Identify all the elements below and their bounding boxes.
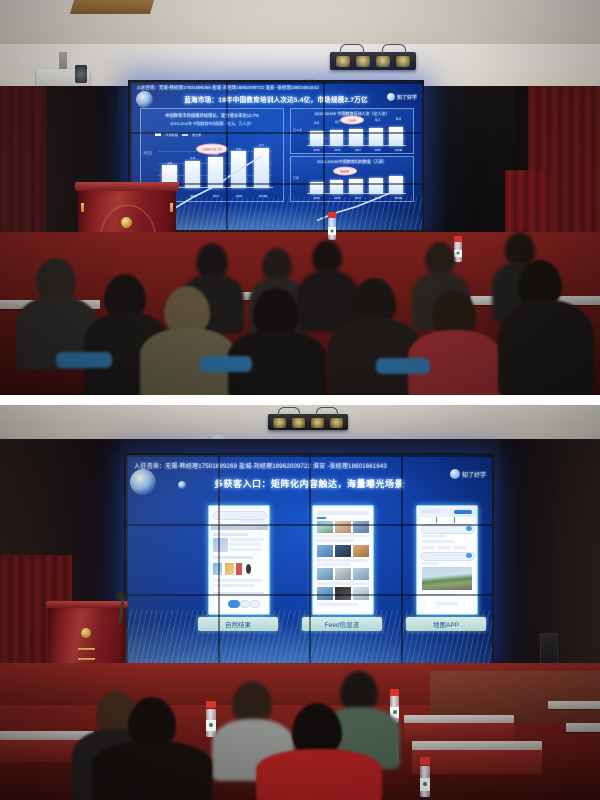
bottle-label xyxy=(328,227,336,235)
projector-lens-icon xyxy=(75,65,87,83)
brand-circle-icon xyxy=(450,469,460,479)
stage-light-bar xyxy=(268,407,348,431)
chart-card-right-bottom: 2015-2019E中国教育机构数量（万家） xyxy=(290,156,414,202)
bottle-label xyxy=(420,778,430,791)
feed-caption xyxy=(317,563,350,566)
map-list-line xyxy=(438,546,451,549)
map-pin-icon xyxy=(466,553,471,558)
map-app-badge xyxy=(454,510,472,514)
bar-value-label: 1.9 xyxy=(190,156,194,160)
chart-left-ylabel: 万亿元 xyxy=(143,151,152,155)
map-list-line xyxy=(422,535,445,538)
feed-caption xyxy=(317,582,369,585)
category-label: 2016 xyxy=(334,148,340,152)
feed-header xyxy=(317,511,369,515)
phone-mockup-feed xyxy=(312,505,374,615)
podium-emblem xyxy=(121,217,132,228)
audience-desk xyxy=(404,715,514,723)
photo-top: 入驻咨询：无锡-韩经理17501699269 盐城-刘经理18962009722… xyxy=(0,0,600,395)
bottle-cap xyxy=(420,757,430,765)
audience-desk-front xyxy=(404,723,514,743)
audience-member xyxy=(256,749,382,800)
audience-member xyxy=(498,300,594,395)
brand-circle-icon xyxy=(387,93,395,101)
pagination-control xyxy=(250,600,260,608)
chart-right-bottom-ylabel: 万家 xyxy=(293,176,299,180)
podium-corner-trim-right xyxy=(170,203,173,212)
stage-lamp-3-icon xyxy=(376,56,390,67)
feed-image xyxy=(335,521,351,533)
map-route-line xyxy=(436,517,437,523)
chart-card-right-top: 2015-2019E 中国教育培训人次（亿人次） 4.4 xyxy=(290,108,414,154)
map-list-line xyxy=(422,540,454,543)
podium-gold-bar xyxy=(78,658,95,660)
map-app-title xyxy=(421,510,440,513)
audience-member xyxy=(425,242,455,276)
result-line xyxy=(230,543,260,546)
audience-chair xyxy=(200,356,252,372)
photo-separator xyxy=(0,395,600,405)
result-line xyxy=(230,538,264,541)
brand-name: 知了好学 xyxy=(397,94,417,101)
result-line xyxy=(230,548,262,551)
slide-ticker-contact: 入驻咨询：无锡-韩经理17501699269 盐城-刘经理18962009722… xyxy=(136,85,416,91)
audience-chair xyxy=(376,358,430,374)
podium-emblem xyxy=(81,628,91,638)
audience-member xyxy=(505,232,535,266)
chart-left-title: 中国教育市场规模持续增长，复合增长率达13.7% xyxy=(145,113,279,119)
phone-screen xyxy=(315,508,372,613)
slide-glow-orb-left xyxy=(130,469,156,495)
map-street-view-photo xyxy=(422,567,472,590)
map-section-label xyxy=(422,562,439,565)
podium-top-surface xyxy=(75,182,179,191)
result-icon xyxy=(236,563,242,575)
chart-right-bottom-xaxis xyxy=(307,193,406,194)
audience-chair xyxy=(56,352,112,368)
bottle-label xyxy=(206,720,216,732)
podium-gold-bar xyxy=(78,648,95,650)
audience-desk xyxy=(548,701,600,709)
chart-left-annotation: CAGR 13.7% xyxy=(196,144,228,155)
map-footer-line xyxy=(436,602,459,605)
led-panel-seam xyxy=(226,82,228,230)
result-icon xyxy=(246,564,251,573)
stage-lamp-4-icon xyxy=(396,56,410,67)
chart-right-top-plot xyxy=(307,125,406,146)
feed-image xyxy=(335,568,351,580)
bottle-label xyxy=(454,250,462,258)
stage-lamp-1-icon xyxy=(336,56,350,67)
chart-right-bottom-annotation: 增长率 xyxy=(333,167,357,176)
result-line xyxy=(213,579,263,582)
result-meta xyxy=(240,520,265,523)
bar xyxy=(369,128,383,146)
phone-screen xyxy=(419,508,476,613)
water-bottle xyxy=(206,701,216,737)
bar xyxy=(389,127,403,146)
feed-caption xyxy=(317,603,358,606)
phone-mockup-map-app xyxy=(416,505,478,615)
chart-left-subtitle: 2015-2019年 中国教育市场规模（亿元，万人次） xyxy=(145,122,279,127)
feed-image xyxy=(317,545,333,557)
audience-member xyxy=(312,240,342,274)
feed-image xyxy=(353,568,369,580)
chart-right-bottom-title: 2015-2019E中国教育机构数量（万家） xyxy=(295,159,410,165)
bottle-cap xyxy=(206,701,216,708)
bar-value-label: 2.7 xyxy=(259,143,263,147)
feed-caption xyxy=(317,535,369,538)
feed-image xyxy=(317,568,333,580)
podium-microphone-head-icon xyxy=(116,591,125,600)
search-bar xyxy=(213,511,267,520)
led-panel-seam xyxy=(309,455,311,665)
category-label: 2018 xyxy=(374,148,380,152)
map-route-line xyxy=(454,517,455,523)
bar-value-label: 4.4 xyxy=(314,121,319,125)
feed-caption xyxy=(317,559,367,562)
slide-glow-orb-left xyxy=(136,91,153,108)
stage-lamp-1-icon xyxy=(273,418,286,428)
light-bar-yoke-right xyxy=(316,407,338,416)
bottle-cap xyxy=(454,236,462,242)
map-list-line xyxy=(454,546,467,549)
bottle-cap xyxy=(390,689,399,696)
bar-value-label: 4.7 xyxy=(335,120,340,124)
category-label: 2019E xyxy=(394,148,402,152)
light-bar-yoke-right xyxy=(382,44,406,54)
stage-lamp-4-icon xyxy=(330,418,343,428)
podium-corner-trim-left xyxy=(81,203,84,212)
category-label: 2017 xyxy=(355,148,361,152)
bar-value-label: 5.1 xyxy=(375,118,380,122)
led-video-wall: 入驻咨询：无锡-韩经理17501699269 盐城-刘经理18962009722… xyxy=(124,453,494,667)
feed-image xyxy=(317,521,333,533)
bar-value-label: 2.5 xyxy=(236,147,240,151)
podium-top-surface xyxy=(46,601,129,608)
audience-desk xyxy=(412,741,542,750)
map-locate-icon xyxy=(466,526,471,531)
slide-glow-orb-small xyxy=(178,481,186,489)
led-panel-seam xyxy=(323,82,325,230)
led-panel-seam xyxy=(126,524,492,526)
audience-desk xyxy=(566,723,600,732)
water-bottle xyxy=(420,757,430,797)
led-screen: 入驻咨询：无锡-韩经理17501699269 盐城-刘经理18962009722… xyxy=(126,455,492,665)
chart-right-top-bars xyxy=(307,125,406,146)
led-panel-seam xyxy=(218,455,220,665)
feed-image xyxy=(353,521,369,533)
led-panel-seam xyxy=(130,132,422,134)
category-label: 2015 xyxy=(313,148,319,152)
feed-tab-indicator xyxy=(317,517,326,519)
led-panel-seam xyxy=(401,455,403,665)
pagination-control xyxy=(228,600,240,608)
feed-caption xyxy=(317,539,355,542)
stage-lamp-2-icon xyxy=(292,418,305,428)
water-bottle xyxy=(328,212,336,240)
chart-right-top-annotation: CAGR xyxy=(340,116,364,125)
photo-bottom: 入驻咨询：无锡-韩经理17501699269 盐城-刘经理18962009722… xyxy=(0,405,600,800)
seminar-photo-pair: 入驻咨询：无锡-韩经理17501699269 盐城-刘经理18962009722… xyxy=(0,0,600,800)
feed-image xyxy=(353,545,369,557)
ceiling-hatch xyxy=(70,0,154,14)
light-bar-yoke-left xyxy=(340,44,364,54)
feed-image xyxy=(335,545,351,557)
brand-logo: 知了好学 xyxy=(450,469,486,479)
stage-lamp-2-icon xyxy=(356,56,370,67)
led-panel-seam xyxy=(126,594,492,596)
result-thumbnail xyxy=(213,538,228,552)
stage-light-bar xyxy=(330,44,416,70)
bar-value-label: 1.6 xyxy=(167,161,171,165)
audience-member xyxy=(262,248,292,282)
wall-drape-left xyxy=(0,86,46,246)
brand-logo: 知了好学 xyxy=(387,93,417,101)
stage-red-panel-right xyxy=(505,170,553,240)
water-bottle xyxy=(454,236,462,262)
brand-name: 知了好学 xyxy=(462,470,486,479)
result-icon xyxy=(225,563,234,575)
audience-desk-front xyxy=(412,750,542,774)
bar-value-label: 5.4 xyxy=(396,117,401,121)
pagination-control xyxy=(240,600,250,608)
map-list-line xyxy=(422,546,435,549)
stage-lamp-3-icon xyxy=(311,418,324,428)
slide-headline: 蓝海市场：19年中国教育培训人次达5.4亿，市场规模2.7万亿 xyxy=(148,94,405,104)
chart-right-top-xaxis xyxy=(307,145,406,146)
light-bar-yoke-left xyxy=(278,407,300,416)
audience-member xyxy=(92,741,212,800)
